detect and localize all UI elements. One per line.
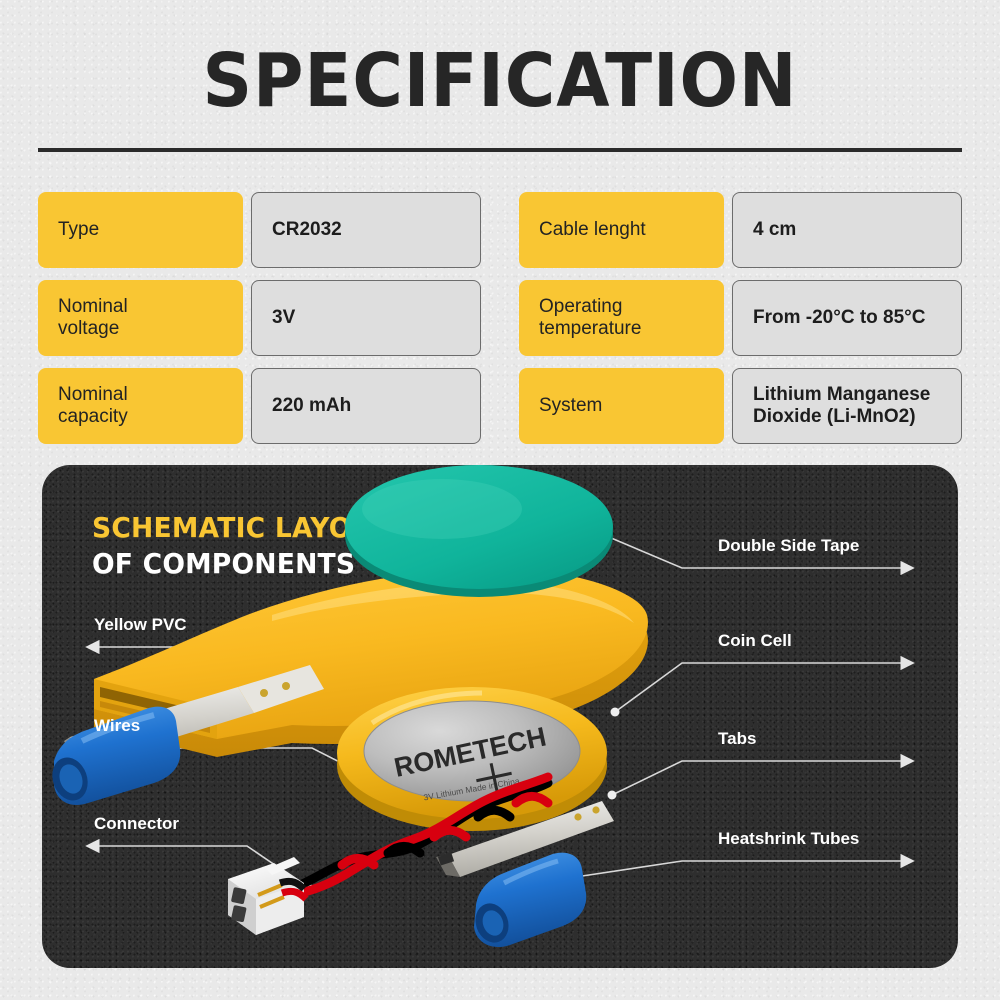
page-title: SPECIFICATION [35, 44, 965, 118]
connector-part [228, 857, 306, 935]
specification-table: Type CR2032 Nominal voltage 3V Nominal c… [38, 192, 962, 444]
spec-column-left: Type CR2032 Nominal voltage 3V Nominal c… [38, 192, 481, 444]
spec-row: System Lithium Manganese Dioxide (Li-MnO… [519, 368, 962, 444]
spec-value: 220 mAh [251, 368, 481, 444]
callout-label: Coin Cell [718, 631, 792, 650]
spec-row: Cable lenght 4 cm [519, 192, 962, 268]
page-title-wrap: SPECIFICATION [0, 44, 1000, 118]
callout-label: Heatshrink Tubes [718, 829, 859, 848]
callout-double-side-tape: Double Side Tape [718, 536, 859, 556]
callout-label: Yellow PVC [94, 615, 187, 634]
callout-label: Double Side Tape [718, 536, 859, 555]
spec-column-right: Cable lenght 4 cm Operating temperature … [519, 192, 962, 444]
callout-label: Wires [94, 716, 140, 735]
callout-yellow-pvc: Yellow PVC [94, 615, 187, 635]
spec-row: Nominal capacity 220 mAh [38, 368, 481, 444]
spec-value: 4 cm [732, 192, 962, 268]
spec-label: Cable lenght [519, 192, 724, 268]
callout-label: Tabs [718, 729, 756, 748]
spec-value: CR2032 [251, 192, 481, 268]
spec-label: Nominal capacity [38, 368, 243, 444]
spec-row: Type CR2032 [38, 192, 481, 268]
spec-value: Lithium Manganese Dioxide (Li-MnO2) [732, 368, 962, 444]
callout-tabs: Tabs [718, 729, 756, 749]
spec-label: Operating temperature [519, 280, 724, 356]
spec-value: From -20°C to 85°C [732, 280, 962, 356]
spec-value: 3V [251, 280, 481, 356]
callout-label: Connector [94, 814, 179, 833]
spec-row: Operating temperature From -20°C to 85°C [519, 280, 962, 356]
callout-coin-cell: Coin Cell [718, 631, 792, 651]
callout-heatshrink-tubes: Heatshrink Tubes [718, 829, 859, 849]
spec-row: Nominal voltage 3V [38, 280, 481, 356]
title-divider [38, 148, 962, 152]
spec-label: Type [38, 192, 243, 268]
schematic-panel: SCHEMATIC LAYOUT OF COMPONENTS [42, 465, 958, 968]
double-side-tape-part [345, 465, 613, 597]
callout-connector: Connector [94, 814, 179, 834]
callout-wires: Wires [94, 716, 140, 736]
spec-label: Nominal voltage [38, 280, 243, 356]
spec-label: System [519, 368, 724, 444]
